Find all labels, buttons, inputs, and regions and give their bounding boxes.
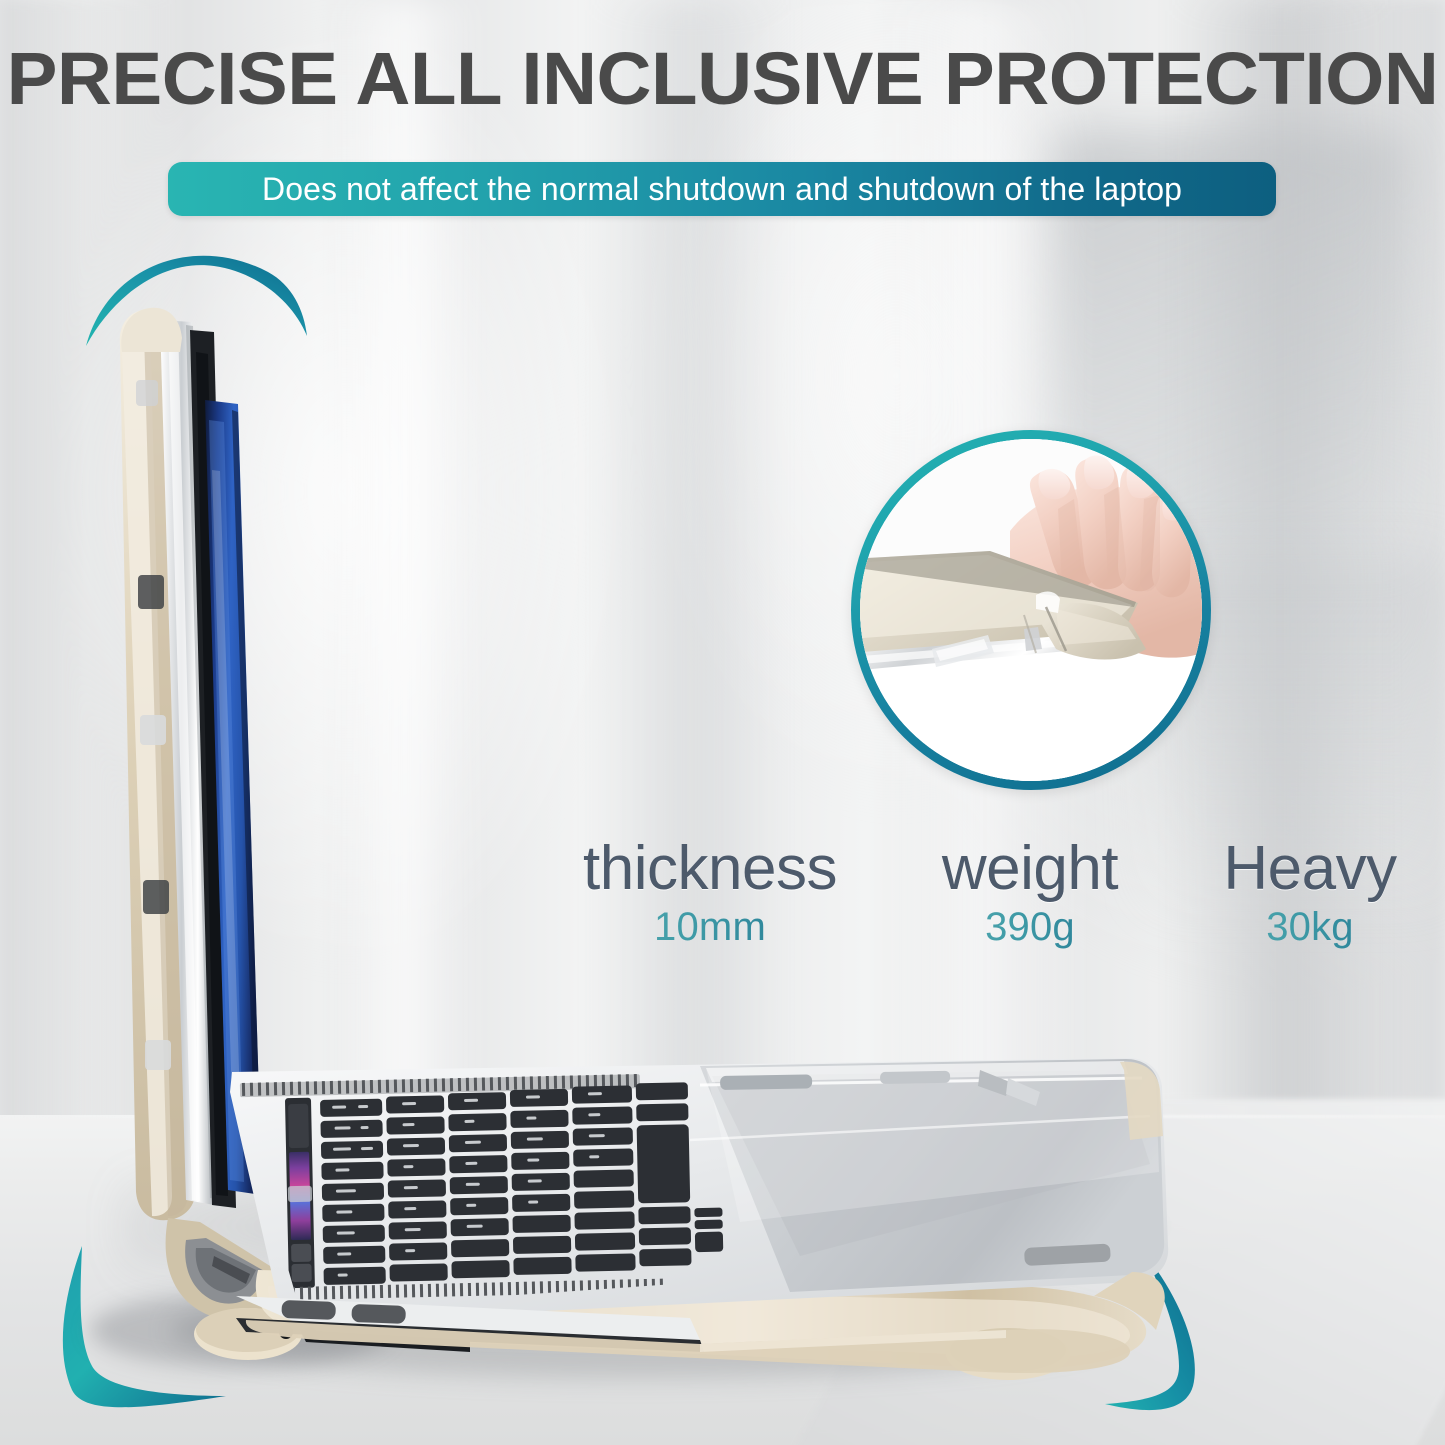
spec-heavy-value: 30kg [1185, 905, 1435, 950]
spec-weight: weight 390g [905, 836, 1155, 950]
spec-heavy: Heavy 30kg [1185, 836, 1435, 950]
spec-row: thickness 10mm weight 390g Heavy 30kg [545, 836, 1435, 976]
spec-weight-label: weight [905, 836, 1155, 901]
decorative-arc-top-left-icon [78, 238, 308, 358]
spec-thickness: thickness 10mm [545, 836, 875, 950]
spec-thickness-label: thickness [545, 836, 875, 901]
desk-surface [0, 1115, 1445, 1445]
product-marketing-image: PRECISE ALL INCLUSIVE PROTECTION Does no… [0, 0, 1445, 1445]
spec-thickness-value: 10mm [545, 905, 875, 950]
inset-illustration [860, 439, 1202, 781]
subtitle-banner: Does not affect the normal shutdown and … [168, 162, 1276, 216]
inset-detail-circle [851, 430, 1211, 790]
spec-heavy-label: Heavy [1185, 836, 1435, 901]
subtitle-banner-text: Does not affect the normal shutdown and … [262, 171, 1182, 208]
page-title: PRECISE ALL INCLUSIVE PROTECTION [0, 42, 1445, 116]
spec-weight-value: 390g [905, 905, 1155, 950]
